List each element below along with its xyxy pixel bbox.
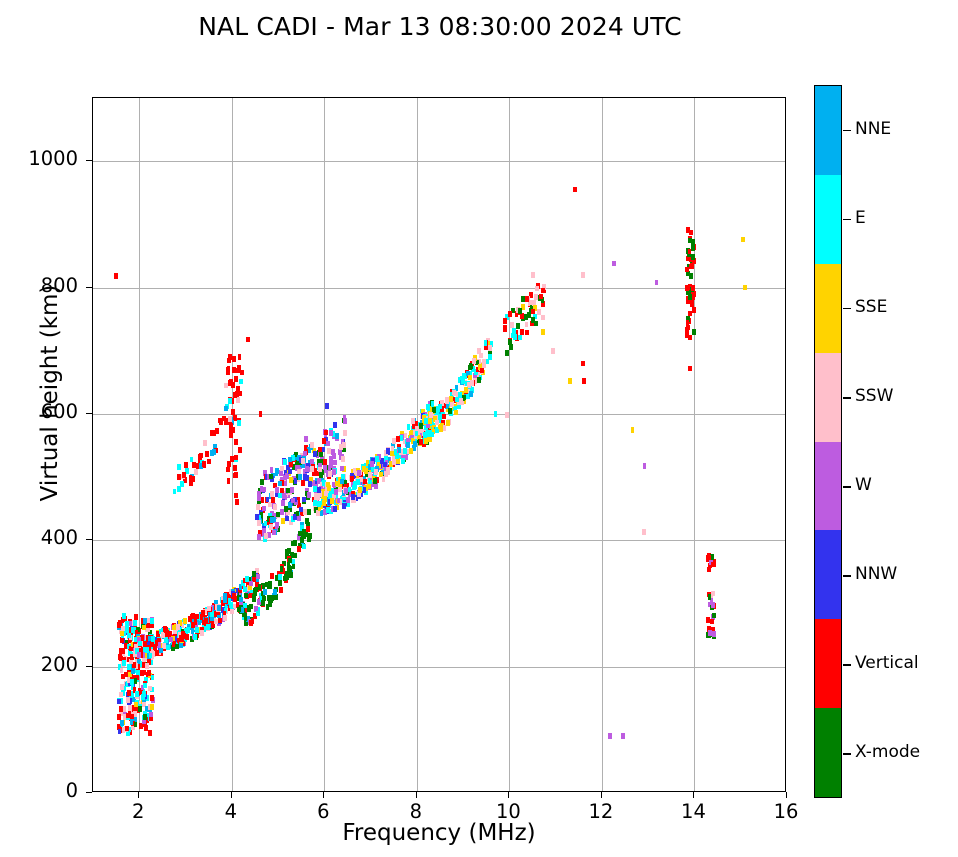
scatter-point	[541, 329, 545, 335]
x-axis-tick	[601, 792, 602, 798]
scatter-point	[374, 469, 378, 475]
y-axis-tick	[86, 666, 92, 667]
scatter-point	[310, 466, 314, 472]
scatter-point	[263, 589, 267, 595]
colorbar-tick	[843, 486, 851, 488]
scatter-point	[326, 441, 330, 447]
scatter-point	[226, 467, 230, 473]
scatter-point	[612, 261, 616, 267]
colorbar-segment-x-mode[interactable]	[815, 708, 841, 797]
scatter-point	[307, 492, 311, 498]
scatter-point	[125, 621, 129, 627]
scatter-point	[223, 615, 227, 621]
scatter-point	[125, 726, 129, 732]
scatter-point	[239, 597, 243, 603]
scatter-point	[215, 428, 219, 434]
scatter-point	[188, 616, 192, 622]
scatter-point	[484, 340, 488, 346]
plot-area[interactable]	[92, 97, 786, 792]
scatter-point	[688, 294, 692, 300]
scatter-point	[237, 365, 241, 371]
scatter-point	[512, 328, 516, 334]
scatter-point	[537, 309, 541, 315]
scatter-point	[688, 366, 692, 372]
scatter-point	[395, 453, 399, 459]
scatter-point	[288, 469, 292, 475]
scatter-point	[708, 630, 712, 636]
scatter-point	[707, 555, 711, 561]
scatter-point	[194, 469, 198, 475]
scatter-point	[396, 436, 400, 442]
scatter-point	[428, 430, 432, 436]
scatter-point	[217, 605, 221, 611]
scatter-point	[198, 454, 202, 460]
scatter-point	[288, 558, 292, 564]
scatter-point	[249, 620, 253, 626]
scatter-point	[206, 624, 210, 630]
scatter-point	[469, 391, 473, 397]
scatter-point	[691, 240, 695, 246]
scatter-point	[227, 366, 231, 372]
scatter-point	[425, 431, 429, 437]
scatter-point	[525, 296, 529, 302]
scatter-point	[438, 404, 442, 410]
scatter-point	[300, 537, 304, 543]
scatter-point	[531, 317, 535, 323]
scatter-point	[150, 704, 154, 710]
scatter-point	[253, 590, 257, 596]
scatter-point	[329, 456, 333, 462]
scatter-point	[260, 479, 264, 485]
scatter-point	[283, 576, 287, 582]
scatter-point	[234, 493, 238, 499]
colorbar[interactable]	[814, 85, 842, 798]
scatter-point	[685, 267, 689, 273]
scatter-point	[298, 474, 302, 480]
y-tick-label: 200	[8, 653, 78, 676]
x-axis-tick	[786, 792, 787, 798]
scatter-point	[149, 653, 153, 659]
scatter-point	[177, 464, 181, 470]
scatter-point	[193, 634, 197, 640]
scatter-point	[134, 702, 138, 708]
scatter-point	[278, 481, 282, 487]
y-tick-label: 1000	[8, 147, 78, 170]
scatter-point	[314, 493, 318, 499]
scatter-point	[268, 584, 272, 590]
scatter-point	[429, 412, 433, 418]
scatter-point	[319, 472, 323, 478]
scatter-point	[231, 382, 235, 388]
scatter-point	[229, 432, 233, 438]
scatter-point	[286, 488, 290, 494]
scatter-point	[228, 398, 232, 404]
scatter-point	[280, 566, 284, 572]
scatter-point	[118, 729, 122, 735]
scatter-point	[551, 348, 555, 354]
scatter-point	[121, 626, 125, 632]
y-axis-tick	[86, 287, 92, 288]
scatter-point	[134, 678, 138, 684]
scatter-point	[428, 437, 432, 443]
scatter-point	[266, 497, 270, 503]
scatter-point	[257, 520, 261, 526]
scatter-point	[195, 627, 199, 633]
scatter-point	[482, 359, 486, 365]
scatter-point	[249, 604, 253, 610]
scatter-point	[477, 377, 481, 383]
scatter-point	[150, 695, 154, 701]
scatter-point	[268, 602, 272, 608]
scatter-point	[305, 475, 309, 481]
scatter-point	[272, 530, 276, 536]
scatter-point	[568, 378, 572, 384]
scatter-point	[169, 637, 173, 643]
scatter-point	[127, 690, 131, 696]
scatter-point	[518, 308, 522, 314]
scatter-point	[690, 263, 694, 269]
scatter-point	[333, 460, 337, 466]
scatter-point	[148, 730, 152, 736]
colorbar-label-nnw: NNW	[855, 564, 897, 584]
scatter-point	[305, 518, 309, 524]
scatter-point	[344, 488, 348, 494]
y-axis-tick	[86, 160, 92, 161]
gridline-horizontal	[93, 540, 785, 541]
x-axis-tick	[138, 792, 139, 798]
scatter-point	[279, 587, 283, 593]
scatter-point	[525, 330, 529, 336]
x-axis-tick	[508, 792, 509, 798]
scatter-point	[323, 465, 327, 471]
scatter-point	[151, 675, 155, 681]
scatter-point	[358, 487, 362, 493]
scatter-point	[124, 672, 128, 678]
scatter-point	[281, 518, 285, 524]
scatter-point	[290, 487, 294, 493]
scatter-point	[234, 376, 238, 382]
colorbar-label-ssw: SSW	[855, 386, 893, 406]
scatter-point	[472, 358, 476, 364]
scatter-point	[278, 580, 282, 586]
scatter-point	[317, 501, 321, 507]
scatter-point	[134, 614, 138, 620]
colorbar-segment-e[interactable]	[815, 175, 841, 264]
scatter-point	[264, 521, 268, 527]
gridline-vertical	[602, 98, 603, 791]
scatter-point	[302, 497, 306, 503]
scatter-point	[313, 451, 317, 457]
scatter-point	[256, 504, 260, 510]
colorbar-segment-ssw[interactable]	[815, 353, 841, 442]
scatter-point	[293, 540, 297, 546]
scatter-point	[710, 619, 714, 625]
scatter-point	[264, 533, 268, 539]
y-tick-label: 0	[8, 779, 78, 802]
scatter-point	[375, 456, 379, 462]
scatter-point	[238, 391, 242, 397]
scatter-point	[234, 439, 238, 445]
scatter-point	[190, 457, 194, 463]
scatter-point	[332, 469, 336, 475]
scatter-point	[141, 694, 145, 700]
scatter-point	[126, 713, 130, 719]
scatter-point	[505, 412, 509, 418]
scatter-point	[239, 379, 243, 385]
ionogram-figure: NAL CADI - Mar 13 08:30:00 2024 UTC 2468…	[0, 0, 958, 857]
scatter-point	[368, 472, 372, 478]
colorbar-label-w: W	[855, 475, 872, 495]
colorbar-tick	[843, 664, 851, 666]
scatter-point	[488, 345, 492, 351]
scatter-point	[128, 705, 132, 711]
scatter-point	[318, 467, 322, 473]
scatter-point	[505, 350, 509, 356]
scatter-point	[370, 461, 374, 467]
scatter-point	[114, 273, 118, 279]
scatter-point	[297, 546, 301, 552]
scatter-point	[324, 430, 328, 436]
scatter-point	[303, 509, 307, 515]
scatter-point	[282, 494, 286, 500]
scatter-point	[424, 438, 428, 444]
scatter-point	[238, 447, 242, 453]
scatter-point	[283, 459, 287, 465]
gridline-vertical	[694, 98, 695, 791]
colorbar-tick	[843, 219, 851, 221]
colorbar-tick	[843, 397, 851, 399]
scatter-point	[396, 458, 400, 464]
x-axis-tick	[693, 792, 694, 798]
colorbar-segment-w[interactable]	[815, 442, 841, 531]
scatter-point	[194, 619, 198, 625]
scatter-point	[148, 686, 152, 692]
scatter-point	[323, 496, 327, 502]
scatter-point	[691, 254, 695, 260]
scatter-point	[233, 596, 237, 602]
scatter-point	[340, 466, 344, 472]
scatter-point	[228, 598, 232, 604]
scatter-point	[117, 699, 121, 705]
scatter-point	[219, 419, 223, 425]
colorbar-segment-sse[interactable]	[815, 264, 841, 353]
scatter-point	[150, 618, 154, 624]
scatter-point	[573, 187, 577, 193]
scatter-point	[741, 237, 745, 243]
scatter-point	[262, 596, 266, 602]
scatter-point	[260, 486, 264, 492]
scatter-point	[326, 507, 330, 513]
scatter-point	[494, 411, 498, 417]
scatter-point	[464, 387, 468, 393]
scatter-point	[531, 309, 535, 315]
scatter-point	[218, 618, 222, 624]
scatter-point	[712, 613, 716, 619]
scatter-point	[144, 725, 148, 731]
x-axis-tick	[416, 792, 417, 798]
scatter-point	[296, 511, 300, 517]
scatter-point	[516, 323, 520, 329]
scatter-point	[688, 311, 692, 317]
scatter-point	[341, 456, 345, 462]
scatter-point	[287, 548, 291, 554]
scatter-point	[525, 322, 529, 328]
scatter-point	[122, 613, 126, 619]
scatter-point	[283, 481, 287, 487]
gridline-horizontal	[93, 161, 785, 162]
scatter-point	[121, 648, 125, 654]
scatter-point	[207, 606, 211, 612]
scatter-point	[224, 406, 228, 412]
gridline-vertical	[232, 98, 233, 791]
scatter-point	[342, 442, 346, 448]
scatter-point	[621, 733, 625, 739]
scatter-point	[513, 334, 517, 340]
scatter-point	[180, 481, 184, 487]
scatter-point	[252, 571, 256, 577]
scatter-point	[452, 390, 456, 396]
scatter-point	[246, 337, 250, 343]
y-axis-tick	[86, 413, 92, 414]
scatter-point	[182, 633, 186, 639]
x-axis-label: Frequency (MHz)	[92, 820, 786, 846]
scatter-point	[343, 418, 347, 424]
scatter-point	[275, 487, 279, 493]
scatter-point	[256, 611, 260, 617]
scatter-point	[329, 430, 333, 436]
scatter-point	[119, 692, 123, 698]
scatter-point	[306, 526, 310, 532]
scatter-point	[743, 285, 747, 291]
scatter-point	[541, 315, 545, 321]
scatter-point	[711, 602, 715, 608]
x-axis-tick	[323, 792, 324, 798]
scatter-point	[137, 652, 141, 658]
scatter-point	[685, 333, 689, 339]
scatter-point	[331, 449, 335, 455]
scatter-point	[322, 438, 326, 444]
scatter-point	[708, 594, 712, 600]
scatter-point	[262, 506, 266, 512]
scatter-point	[343, 430, 347, 436]
scatter-point	[691, 285, 695, 291]
scatter-point	[143, 618, 147, 624]
colorbar-segment-nne[interactable]	[815, 86, 841, 175]
scatter-point	[337, 498, 341, 504]
scatter-point	[237, 607, 241, 613]
scatter-point	[130, 679, 134, 685]
scatter-point	[155, 650, 159, 656]
scatter-point	[508, 311, 512, 317]
scatter-point	[535, 286, 539, 292]
colorbar-segment-nnw[interactable]	[815, 530, 841, 619]
colorbar-tick	[843, 575, 851, 577]
scatter-point	[445, 398, 449, 404]
scatter-point	[438, 424, 442, 430]
scatter-point	[142, 670, 146, 676]
scatter-point	[189, 475, 193, 481]
scatter-point	[138, 641, 142, 647]
scatter-point	[133, 620, 137, 626]
scatter-point	[401, 458, 405, 464]
scatter-point	[233, 465, 237, 471]
scatter-point	[431, 401, 435, 407]
scatter-point	[333, 506, 337, 512]
scatter-point	[270, 467, 274, 473]
scatter-point	[392, 438, 396, 444]
scatter-point	[302, 544, 306, 550]
scatter-point	[643, 463, 647, 469]
scatter-point	[269, 474, 273, 480]
scatter-point	[438, 414, 442, 420]
scatter-point	[461, 378, 465, 384]
scatter-point	[521, 296, 525, 302]
scatter-point	[231, 409, 235, 415]
scatter-point	[234, 455, 238, 461]
scatter-point	[244, 615, 248, 621]
x-axis-tick	[231, 792, 232, 798]
scatter-point	[503, 318, 507, 324]
gridline-horizontal	[93, 667, 785, 668]
scatter-point	[289, 572, 293, 578]
scatter-point	[276, 512, 280, 518]
scatter-point	[485, 359, 489, 365]
scatter-point	[256, 574, 260, 580]
scatter-point	[270, 573, 274, 579]
scatter-point	[403, 448, 407, 454]
colorbar-label-x-mode: X-mode	[855, 742, 920, 762]
scatter-point	[468, 375, 472, 381]
scatter-point	[520, 329, 524, 335]
scatter-point	[255, 514, 259, 520]
scatter-point	[458, 392, 462, 398]
scatter-point	[273, 589, 277, 595]
scatter-point	[335, 433, 339, 439]
scatter-point	[642, 529, 646, 535]
scatter-point	[409, 448, 413, 454]
scatter-point	[357, 470, 361, 476]
scatter-point	[134, 722, 138, 728]
scatter-point	[342, 503, 346, 509]
scatter-point	[236, 386, 240, 392]
scatter-point	[288, 457, 292, 463]
colorbar-segment-vertical[interactable]	[815, 619, 841, 708]
scatter-point	[692, 307, 696, 313]
scatter-point	[257, 496, 261, 502]
scatter-point	[330, 498, 334, 504]
scatter-point	[325, 403, 329, 409]
scatter-point	[159, 648, 163, 654]
scatter-point	[518, 335, 522, 341]
scatter-point	[326, 482, 330, 488]
colorbar-tick	[843, 308, 851, 310]
scatter-point	[685, 327, 689, 333]
colorbar-label-e: E	[855, 208, 866, 228]
scatter-point	[227, 478, 231, 484]
scatter-point	[229, 426, 233, 432]
scatter-point	[338, 449, 342, 455]
scatter-point	[258, 584, 262, 590]
scatter-point	[334, 489, 338, 495]
scatter-point	[120, 720, 124, 726]
scatter-point	[233, 392, 237, 398]
scatter-point	[508, 339, 512, 345]
scatter-point	[232, 356, 236, 362]
scatter-point	[712, 631, 716, 637]
scatter-point	[238, 354, 242, 360]
scatter-point	[244, 593, 248, 599]
scatter-point	[317, 487, 321, 493]
